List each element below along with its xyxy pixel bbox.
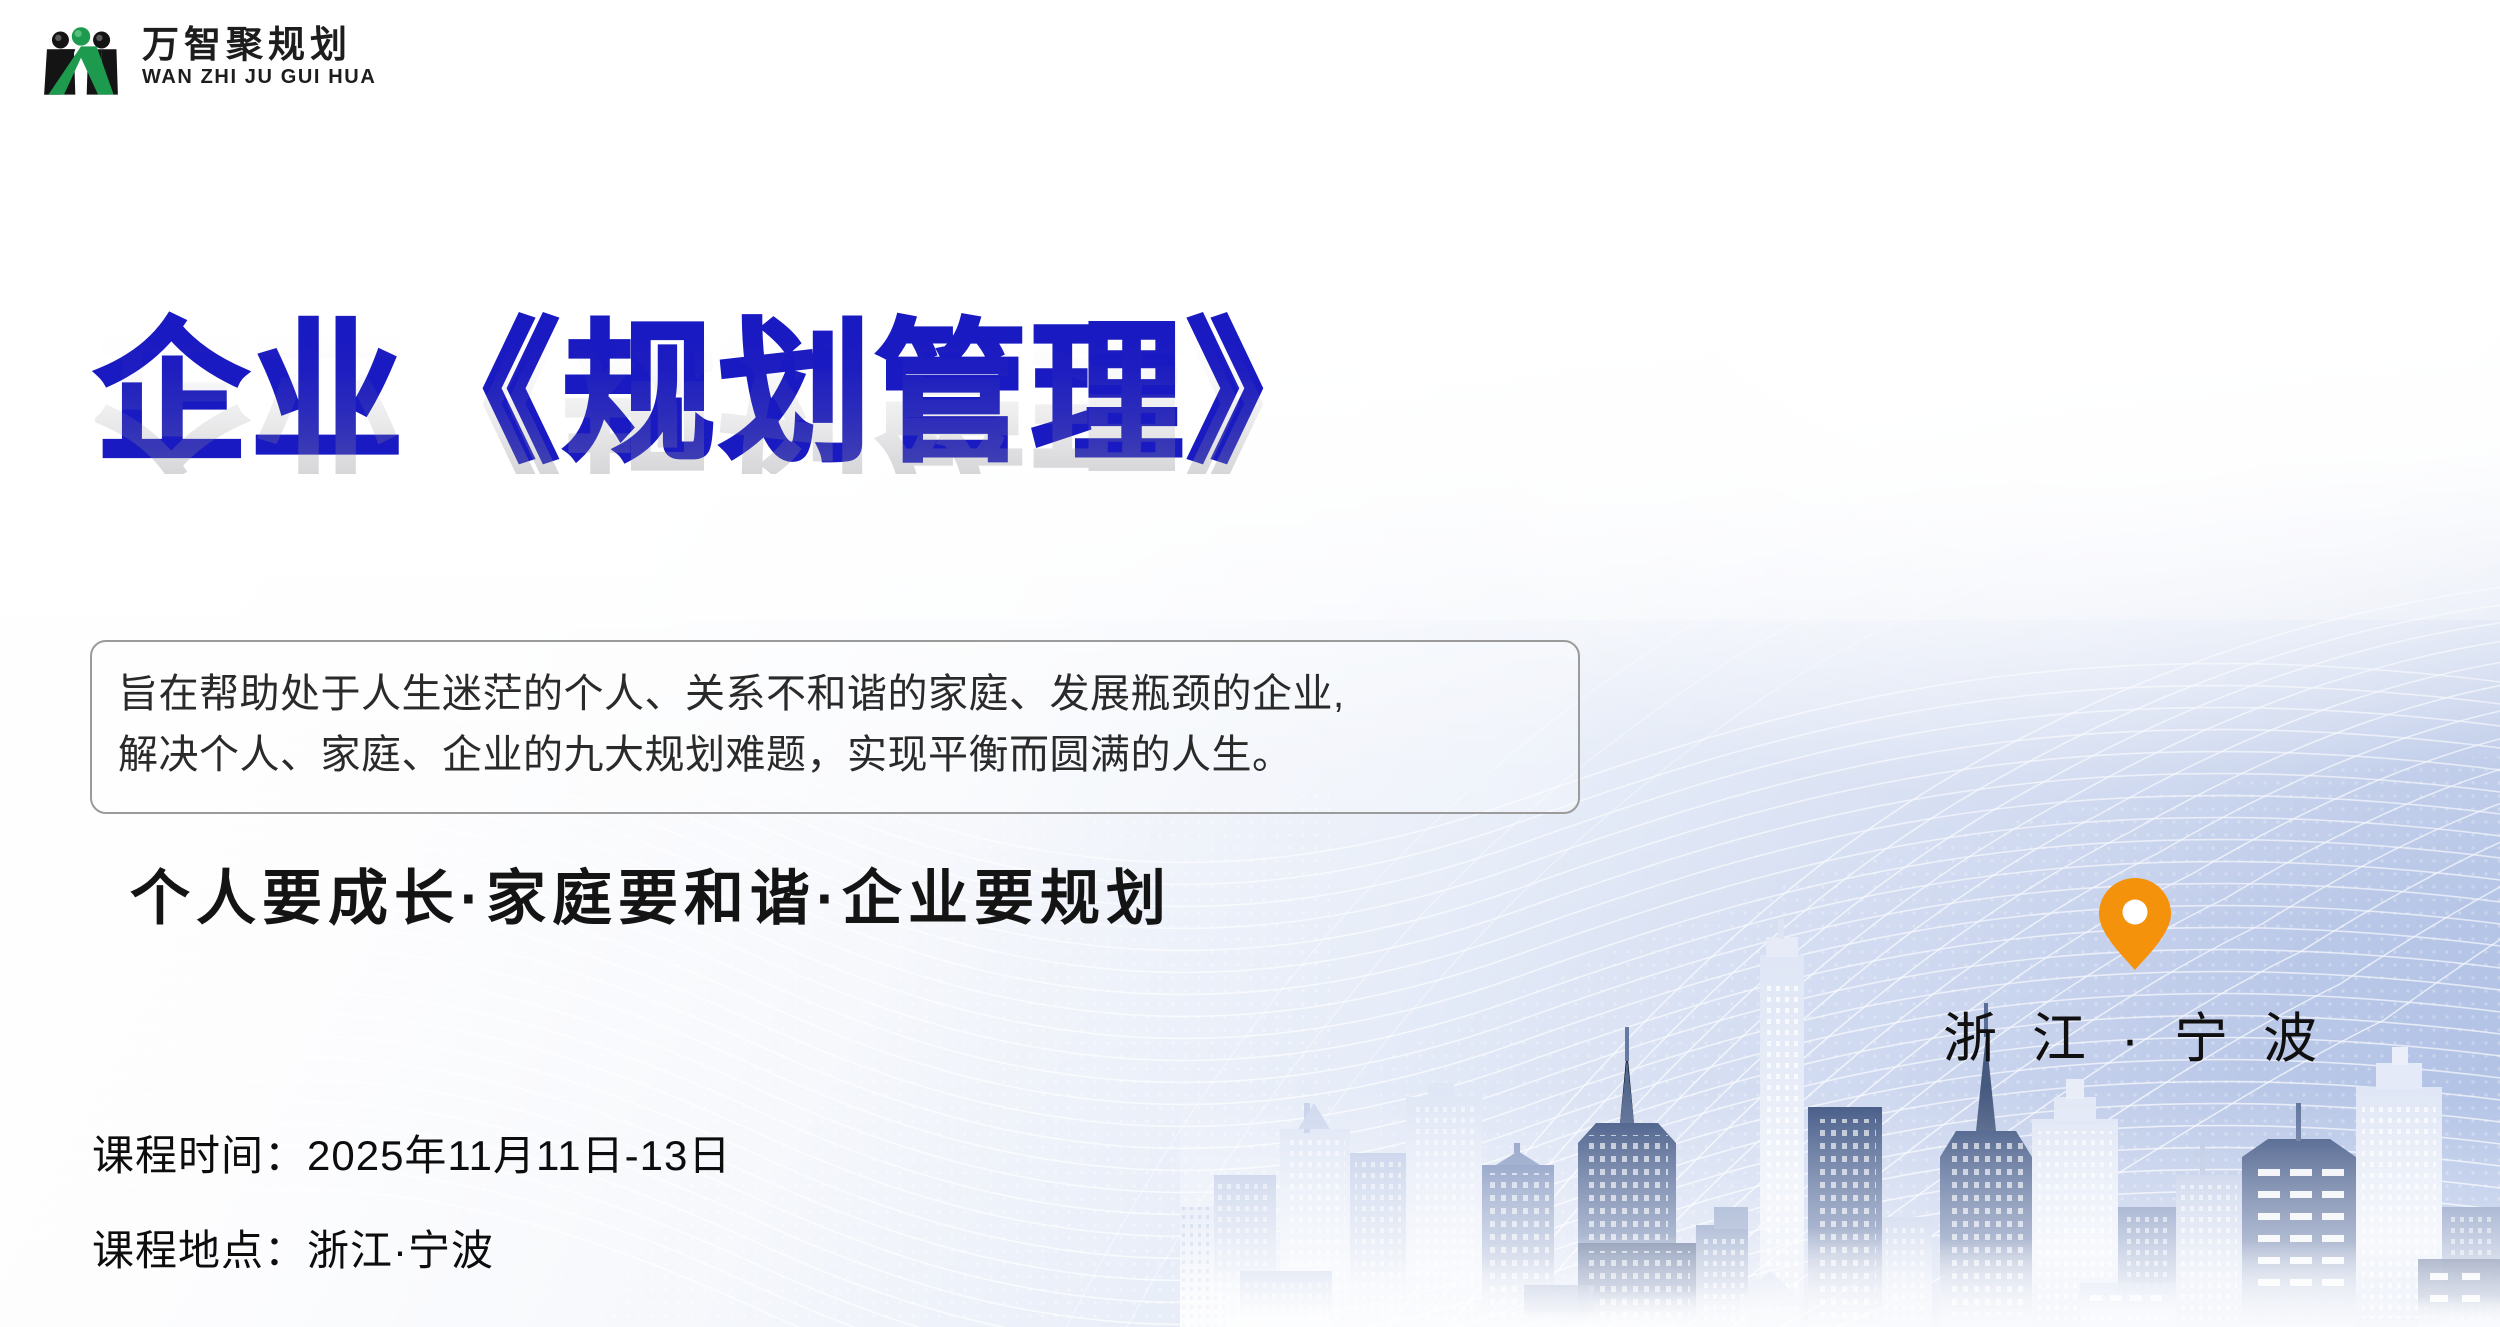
- description-line-1: 旨在帮助处于人生迷茫的个人、关系不和谐的家庭、发展瓶颈的企业,: [118, 664, 1552, 725]
- logo-english-name: WAN ZHI JU GUI HUA: [142, 67, 376, 87]
- course-time: 课程时间：2025年11月11日-13日: [92, 1122, 731, 1183]
- three-people-m-logo-icon: [38, 18, 124, 96]
- map-pin-icon: [2097, 876, 2173, 972]
- description-box: 旨在帮助处于人生迷茫的个人、关系不和谐的家庭、发展瓶颈的企业, 解决个人、家庭、…: [90, 640, 1580, 814]
- hero-title-block: 企业《规划管理》 企业《规划管理》: [95, 318, 1343, 626]
- poster-root: 万智聚规划 WAN ZHI JU GUI HUA 企业《规划管理》 企业《规划管…: [0, 0, 2500, 1327]
- page-title: 企业《规划管理》: [95, 318, 1343, 470]
- location-badge: 浙 江 · 宁 波: [1955, 876, 2315, 1073]
- brand-logo: 万智聚规划 WAN ZHI JU GUI HUA: [38, 18, 376, 96]
- logo-chinese-name: 万智聚规划: [142, 27, 376, 66]
- description-line-2: 解决个人、家庭、企业的九大规划难题，实现平衡而圆满的人生。: [118, 725, 1552, 786]
- tagline: 个人要成长·家庭要和谐·企业要规划: [130, 850, 1172, 937]
- location-text: 浙 江 · 宁 波: [1943, 994, 2327, 1073]
- course-info: 课程时间：2025年11月11日-13日 课程地点：浙江·宁波: [92, 1122, 731, 1278]
- course-place: 课程地点：浙江·宁波: [92, 1217, 731, 1278]
